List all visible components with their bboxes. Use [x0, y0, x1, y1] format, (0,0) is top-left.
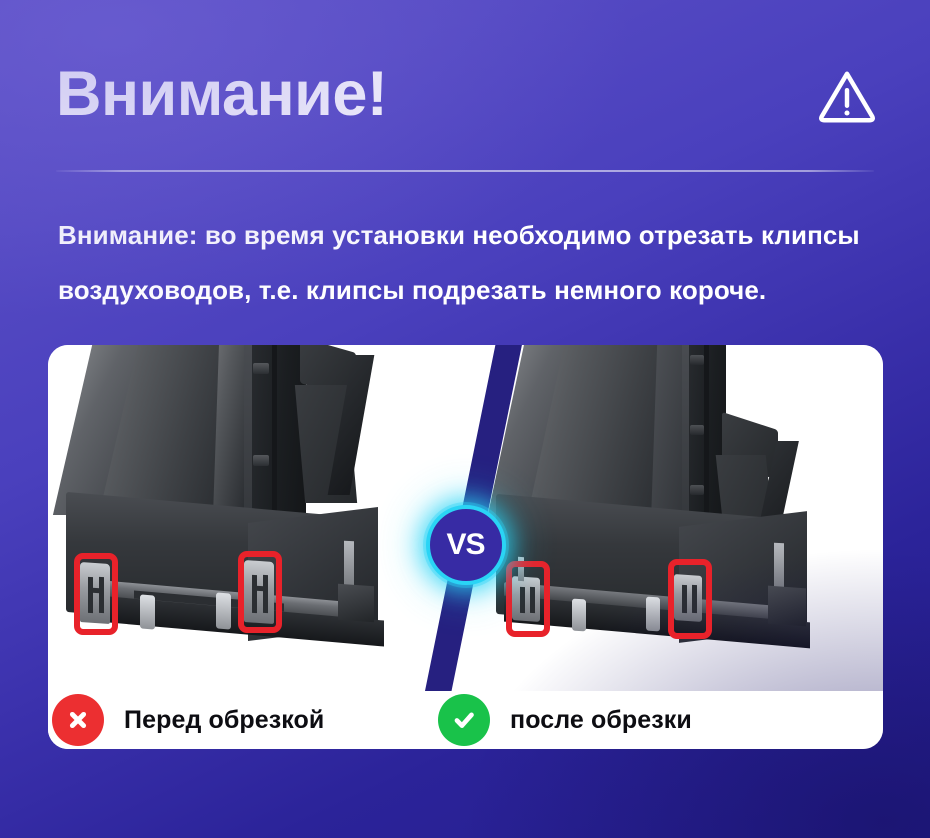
cross-circle-icon — [52, 694, 104, 746]
label-before: Перед обрезкой — [52, 694, 324, 746]
page-title: Внимание! — [56, 52, 387, 136]
intro-paragraph: Внимание: во время установки необходимо … — [58, 208, 898, 318]
page-header: Внимание! — [56, 52, 884, 152]
check-circle-icon — [438, 694, 490, 746]
highlight-box-before-2 — [238, 551, 282, 633]
photo-panel-before — [48, 345, 474, 749]
warning-banner-page: Внимание! Внимание: во время установки н… — [0, 0, 930, 838]
vs-badge: VS — [426, 505, 506, 585]
label-after: после обрезки — [438, 694, 692, 746]
vs-label: VS — [446, 530, 484, 560]
comparison-card: VS Перед обрезкой после обрезки — [48, 345, 883, 749]
photo-panel-after — [474, 345, 883, 749]
highlight-box-after-2 — [668, 559, 712, 639]
highlight-box-after-1 — [506, 561, 550, 637]
header-divider — [56, 170, 874, 172]
photo-before — [48, 345, 474, 749]
highlight-box-before-1 — [74, 553, 118, 635]
warning-triangle-icon — [816, 66, 878, 128]
label-before-text: Перед обрезкой — [124, 706, 324, 735]
label-after-text: после обрезки — [510, 706, 692, 735]
photo-after — [474, 345, 883, 749]
